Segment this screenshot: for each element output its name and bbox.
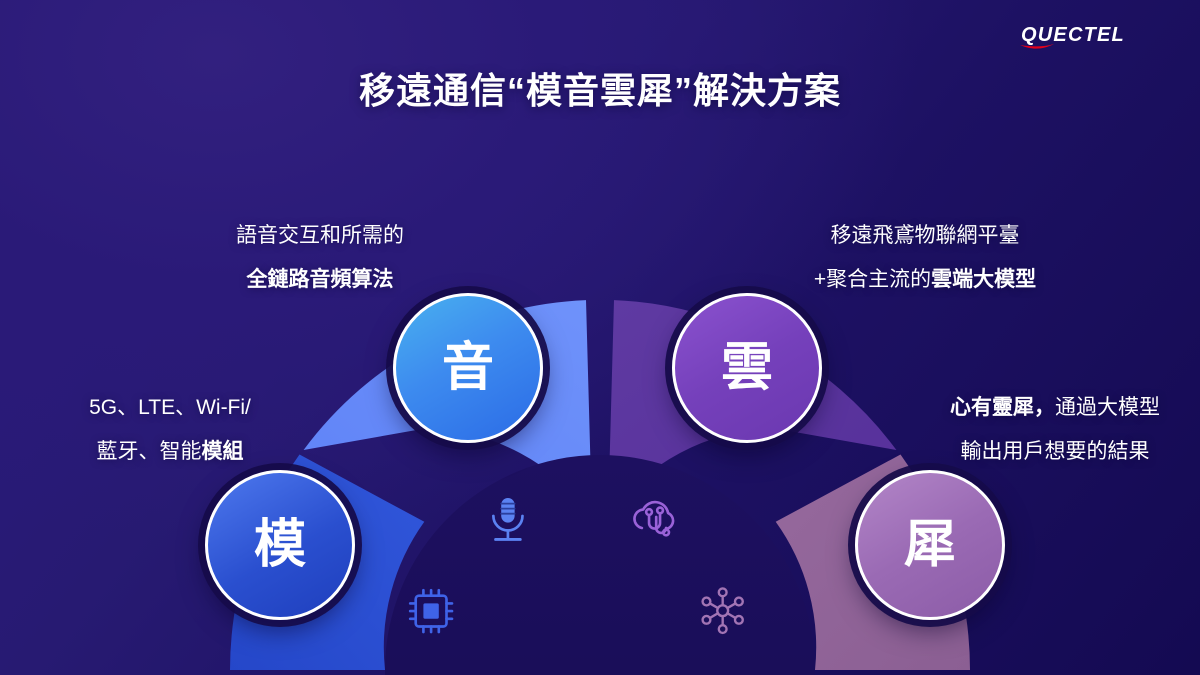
- node-glyph-yun: 雲: [721, 342, 773, 394]
- node-circle-mo[interactable]: 模: [205, 470, 355, 620]
- node-circle-yun[interactable]: 雲: [672, 293, 822, 443]
- node-circle-xi[interactable]: 犀: [855, 470, 1005, 620]
- label-line: 移遠飛鳶物聯網平臺: [800, 214, 1050, 258]
- node-glyph-xi: 犀: [904, 519, 956, 571]
- label-line: 心有靈犀，通過大模型: [925, 386, 1185, 430]
- label-text: 藍牙、智能: [97, 440, 202, 463]
- label-line: 全鏈路音頻算法: [205, 258, 435, 302]
- inner-dome: [385, 455, 815, 675]
- label-line: 輸出用戶想要的結果: [925, 430, 1185, 474]
- label-xi: 心有靈犀，通過大模型輸出用戶想要的結果: [925, 386, 1185, 474]
- label-text: 通過大模型: [1055, 396, 1160, 419]
- label-text-bold: 全鏈路音頻算法: [247, 268, 394, 291]
- quectel-logo: QUECTEL: [1016, 22, 1166, 56]
- label-text-bold: 模組: [202, 440, 244, 463]
- label-text: 5G、LTE、Wi-Fi/: [89, 396, 251, 419]
- node-circle-yin[interactable]: 音: [393, 293, 543, 443]
- label-mo: 5G、LTE、Wi-Fi/藍牙、智能模組: [65, 386, 275, 474]
- label-text-bold: 心有靈犀，: [950, 396, 1055, 419]
- slide-canvas: QUECTEL 移遠通信“模音雲犀”解決方案: [0, 0, 1200, 675]
- page-title: 移遠通信“模音雲犀”解決方案: [0, 68, 1200, 114]
- label-yin: 語音交互和所需的全鏈路音頻算法: [205, 214, 435, 302]
- node-glyph-yin: 音: [442, 342, 494, 394]
- label-line: 5G、LTE、Wi-Fi/: [65, 386, 275, 430]
- label-text: 輸出用戶想要的結果: [961, 440, 1150, 463]
- label-yun: 移遠飛鳶物聯網平臺+聚合主流的雲端大模型: [800, 214, 1050, 302]
- label-line: 藍牙、智能模組: [65, 430, 275, 474]
- label-line: +聚合主流的雲端大模型: [800, 258, 1050, 302]
- label-text: +聚合主流的: [814, 268, 931, 291]
- label-text: 語音交互和所需的: [236, 224, 404, 247]
- label-line: 語音交互和所需的: [205, 214, 435, 258]
- node-glyph-mo: 模: [254, 519, 306, 571]
- label-text-bold: 雲端大模型: [931, 268, 1036, 291]
- label-text: 移遠飛鳶物聯網平臺: [831, 224, 1020, 247]
- logo-wordmark: QUECTEL: [1021, 24, 1125, 46]
- cpu-chip-icon: [410, 590, 452, 632]
